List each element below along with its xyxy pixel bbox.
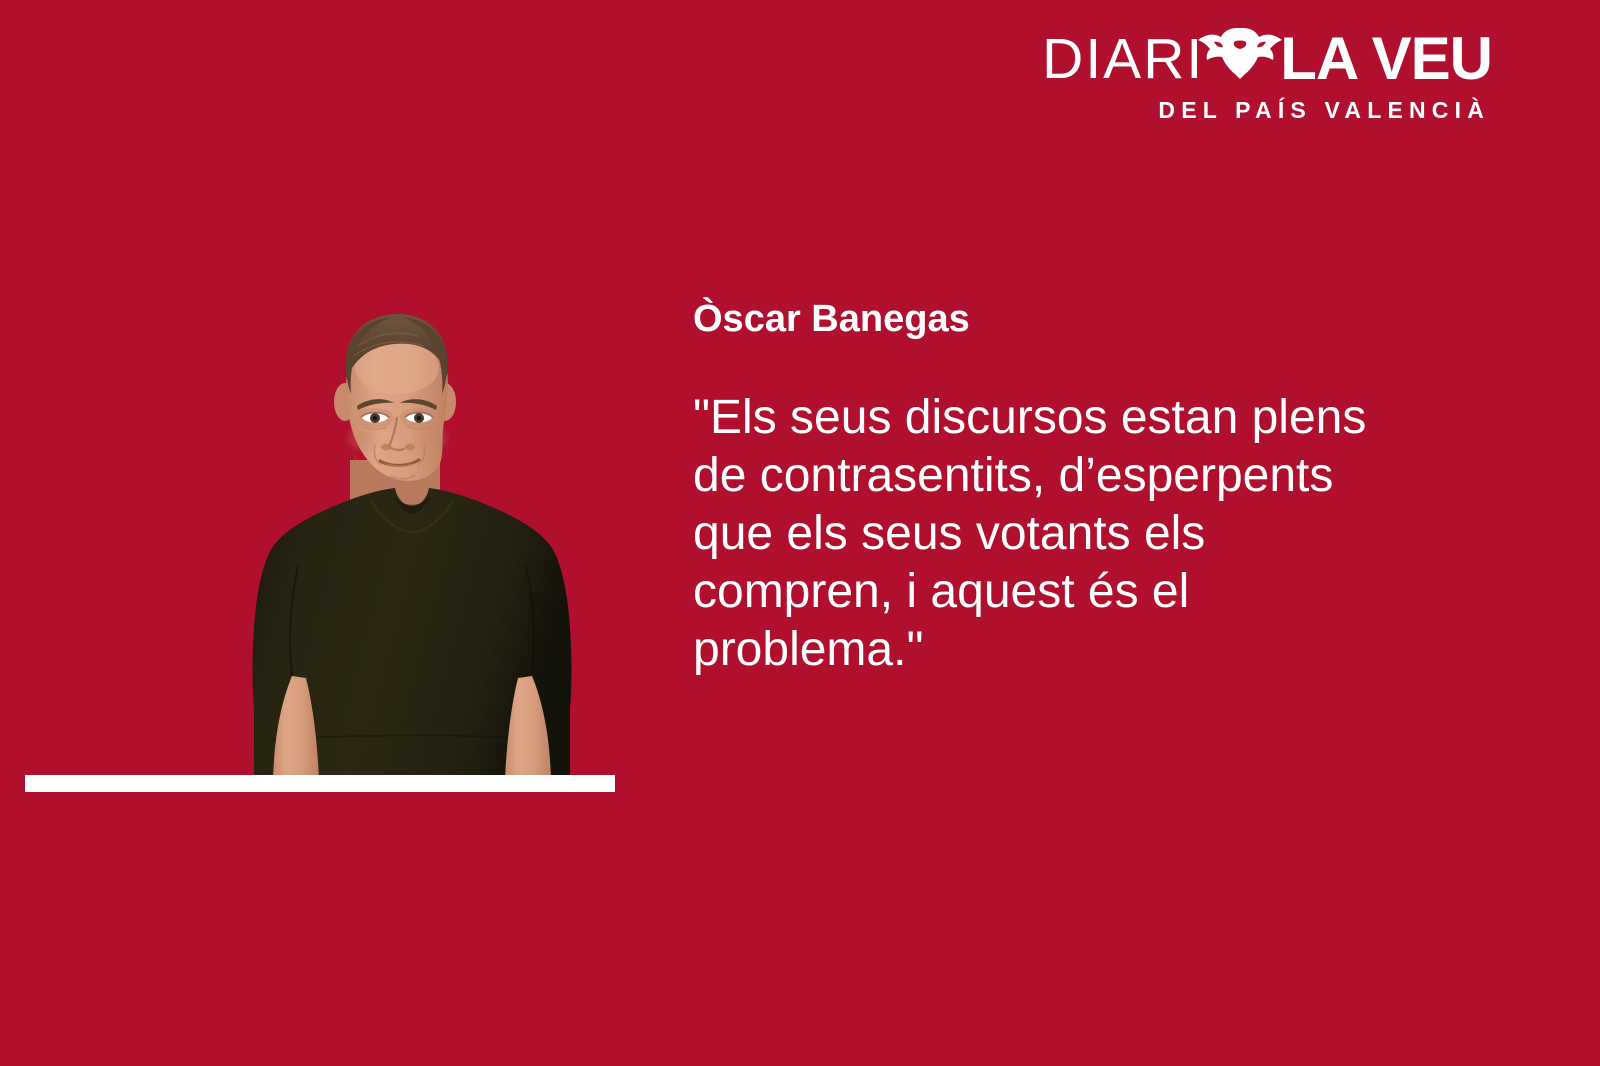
quote-card: DIARI LA VEU DEL PAÍS VALENCIÀ: [0, 0, 1600, 1066]
logo-tagline: DEL PAÍS VALENCIÀ: [1042, 99, 1492, 122]
logo-word-laveu: LA VEU: [1280, 29, 1492, 89]
bat-icon: [1194, 28, 1286, 90]
logo-wordmark: DIARI LA VEU: [1042, 28, 1492, 90]
site-logo[interactable]: DIARI LA VEU DEL PAÍS VALENCIÀ: [1042, 28, 1492, 122]
quote-text-block: Òscar Banegas "Els seus discursos estan …: [693, 298, 1483, 679]
quote-text: "Els seus discursos estan plens de contr…: [693, 389, 1483, 679]
speaker-name: Òscar Banegas: [693, 298, 1483, 341]
portrait-photo: [232, 310, 592, 792]
accent-rule: [25, 775, 615, 792]
logo-word-diari: DIARI: [1042, 31, 1204, 88]
